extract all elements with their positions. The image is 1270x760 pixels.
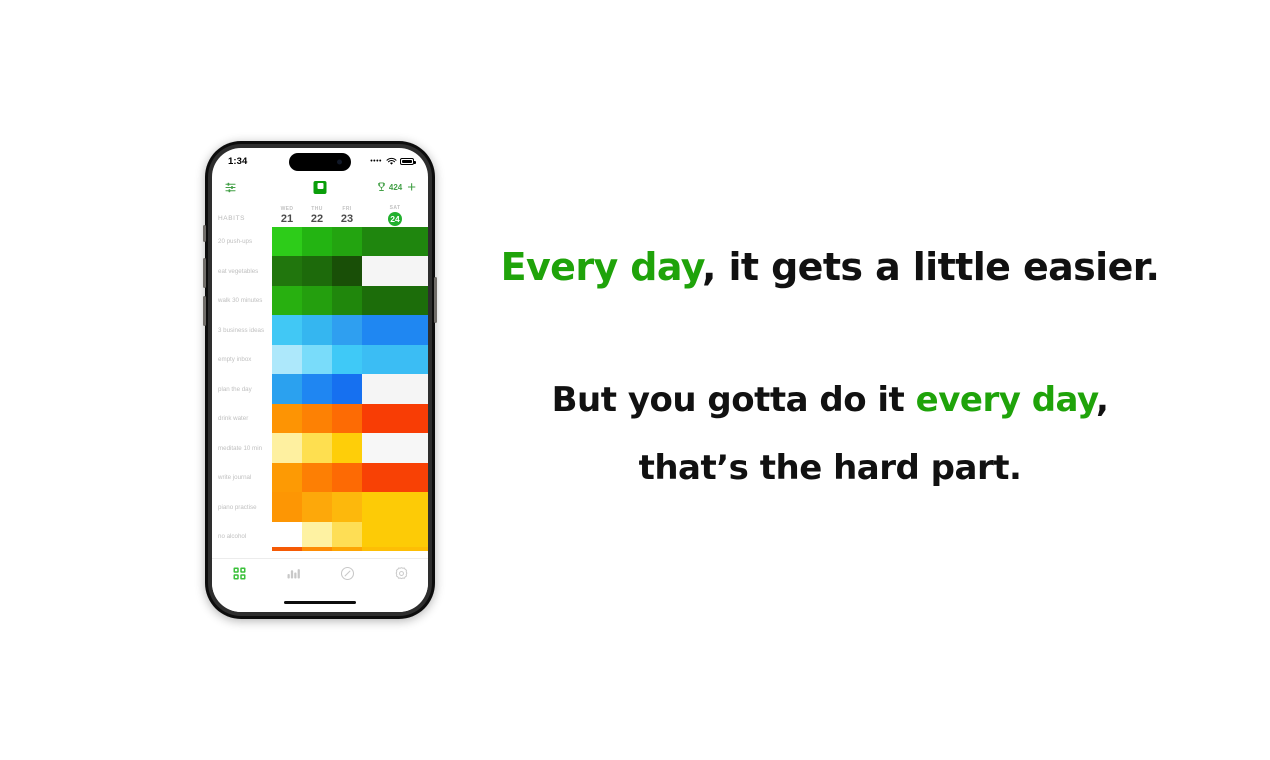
habit-cell[interactable]	[302, 315, 332, 344]
habit-cell[interactable]	[272, 227, 302, 256]
habit-cell[interactable]	[332, 315, 362, 344]
day-columns: WED21THU22FRI23SAT24	[272, 199, 428, 227]
tab-settings[interactable]	[374, 566, 428, 586]
habit-cell[interactable]	[272, 315, 302, 344]
habit-cell[interactable]	[332, 433, 362, 462]
quote-line-2-end: ,	[1096, 380, 1108, 420]
habit-cell[interactable]	[272, 256, 302, 285]
habit-cell[interactable]	[362, 404, 428, 433]
day-number-label: 23	[341, 213, 353, 226]
quote-line-1-highlight: Every day	[501, 245, 702, 289]
quote-line-2: But you gotta do it every day,	[500, 376, 1160, 424]
quote-line-2-highlight: every day	[916, 380, 1096, 420]
habit-cell[interactable]	[272, 463, 302, 492]
habit-cell[interactable]	[272, 374, 302, 403]
habit-cell[interactable]	[272, 345, 302, 374]
habit-cell[interactable]	[362, 286, 428, 315]
habit-name-list: 20 push-upseat vegetableswalk 30 minutes…	[212, 227, 272, 551]
quote-line-3: that’s the hard part.	[500, 444, 1160, 492]
battery-fill	[402, 160, 412, 164]
habit-cell[interactable]	[272, 433, 302, 462]
habit-row	[272, 286, 428, 315]
habit-cell[interactable]	[362, 345, 428, 374]
app-logo-icon	[314, 181, 327, 194]
habit-cell[interactable]	[302, 345, 332, 374]
day-of-week-label: FRI	[342, 206, 351, 212]
progress-strip	[272, 547, 428, 551]
habits-section-label: HABITS	[212, 215, 272, 227]
habit-cell[interactable]	[302, 286, 332, 315]
day-column-22[interactable]: THU22	[302, 206, 332, 228]
habit-cell[interactable]	[362, 433, 428, 462]
add-habit-button[interactable]: +	[407, 180, 416, 195]
day-number-label: 24	[388, 212, 402, 226]
habit-name[interactable]: 3 business ideas	[212, 316, 272, 346]
day-of-week-label: SAT	[390, 205, 401, 211]
habit-cell[interactable]	[332, 492, 362, 521]
tab-stats[interactable]	[266, 566, 320, 586]
habit-cell[interactable]	[272, 492, 302, 521]
grid-icon	[232, 566, 247, 586]
habit-row	[272, 463, 428, 492]
battery-icon	[400, 158, 414, 166]
habit-cell[interactable]	[302, 492, 332, 521]
habit-row	[272, 433, 428, 462]
day-column-23[interactable]: FRI23	[332, 206, 362, 228]
home-indicator[interactable]	[284, 601, 356, 605]
progress-segment	[362, 547, 428, 551]
habit-name[interactable]: 20 push-ups	[212, 227, 272, 257]
habit-row	[272, 315, 428, 344]
habit-name[interactable]: drink water	[212, 404, 272, 434]
sliders-filter-icon[interactable]	[224, 181, 237, 194]
phone-screen: 1:34 ••••	[212, 148, 428, 612]
header-right: 424 +	[377, 180, 416, 195]
habit-cell[interactable]	[272, 286, 302, 315]
quote-block: Every day, it gets a little easier. But …	[500, 240, 1160, 492]
habit-name[interactable]: walk 30 minutes	[212, 286, 272, 316]
phone-mockup: 1:34 ••••	[205, 141, 435, 619]
volume-up-button[interactable]	[203, 258, 206, 288]
status-indicators: ••••	[370, 157, 414, 166]
phone-frame: 1:34 ••••	[205, 141, 435, 619]
header-center	[314, 181, 327, 194]
progress-segment	[272, 547, 302, 551]
quote-line-2-start: But you gotta do it	[552, 380, 916, 420]
habit-name[interactable]: plan the day	[212, 375, 272, 405]
habit-cell[interactable]	[332, 256, 362, 285]
habit-cell-grid	[272, 227, 428, 551]
habit-cell[interactable]	[332, 463, 362, 492]
habit-row	[272, 492, 428, 521]
compass-icon	[340, 566, 355, 586]
trophy-icon	[377, 182, 386, 192]
habit-cell[interactable]	[362, 256, 428, 285]
habit-cell[interactable]	[362, 374, 428, 403]
habit-name[interactable]: eat vegetables	[212, 257, 272, 287]
signal-dots-icon: ••••	[370, 158, 382, 165]
volume-down-button[interactable]	[203, 296, 206, 326]
tab-habits[interactable]	[212, 566, 266, 586]
habit-cell[interactable]	[302, 374, 332, 403]
habit-name[interactable]: write journal	[212, 463, 272, 493]
habit-row	[272, 227, 428, 256]
date-header: HABITS WED21THU22FRI23SAT24	[212, 199, 428, 227]
day-column-24[interactable]: SAT24	[362, 205, 428, 228]
progress-segment	[302, 547, 332, 551]
habit-name[interactable]: piano practise	[212, 493, 272, 523]
day-number-label: 22	[311, 213, 323, 226]
habit-cell[interactable]	[362, 227, 428, 256]
dynamic-island	[289, 153, 351, 171]
habit-cell[interactable]	[302, 404, 332, 433]
habit-cell[interactable]	[302, 227, 332, 256]
habit-cell[interactable]	[362, 492, 428, 521]
habit-cell[interactable]	[302, 433, 332, 462]
power-button[interactable]	[434, 277, 437, 323]
habit-grid: 20 push-upseat vegetableswalk 30 minutes…	[212, 227, 428, 551]
status-time: 1:34	[228, 156, 247, 167]
habit-row	[272, 345, 428, 374]
progress-segment	[332, 547, 362, 551]
app-header: 424 +	[212, 175, 428, 199]
day-number-label: 21	[281, 213, 293, 226]
habit-name[interactable]: no alcohol	[212, 522, 272, 552]
trophy-count-label: 424	[389, 183, 402, 192]
habit-name[interactable]: empty inbox	[212, 345, 272, 375]
habit-row	[272, 256, 428, 285]
habit-row	[272, 374, 428, 403]
habit-cell[interactable]	[332, 286, 362, 315]
front-camera-icon	[337, 160, 342, 165]
trophy-counter[interactable]: 424	[377, 182, 402, 192]
quote-line-1-rest: , it gets a little easier.	[702, 245, 1159, 289]
habit-cell[interactable]	[362, 463, 428, 492]
silence-switch[interactable]	[203, 225, 206, 242]
habit-cell[interactable]	[332, 404, 362, 433]
day-of-week-label: THU	[311, 206, 322, 212]
habit-cell[interactable]	[362, 315, 428, 344]
header-left	[224, 181, 237, 194]
habit-cell[interactable]	[302, 463, 332, 492]
quote-line-1: Every day, it gets a little easier.	[500, 240, 1160, 294]
habit-cell[interactable]	[332, 227, 362, 256]
day-of-week-label: WED	[281, 206, 294, 212]
bar-chart-icon	[286, 567, 301, 586]
day-column-21[interactable]: WED21	[272, 206, 302, 228]
habit-cell[interactable]	[302, 256, 332, 285]
habit-cell[interactable]	[272, 404, 302, 433]
wifi-icon	[386, 157, 397, 166]
habit-name[interactable]: meditate 10 min	[212, 434, 272, 464]
status-bar: 1:34 ••••	[212, 148, 428, 175]
tab-discover[interactable]	[320, 566, 374, 586]
habit-cell[interactable]	[332, 374, 362, 403]
habit-cell[interactable]	[332, 345, 362, 374]
gear-icon	[394, 566, 409, 586]
habit-row	[272, 404, 428, 433]
